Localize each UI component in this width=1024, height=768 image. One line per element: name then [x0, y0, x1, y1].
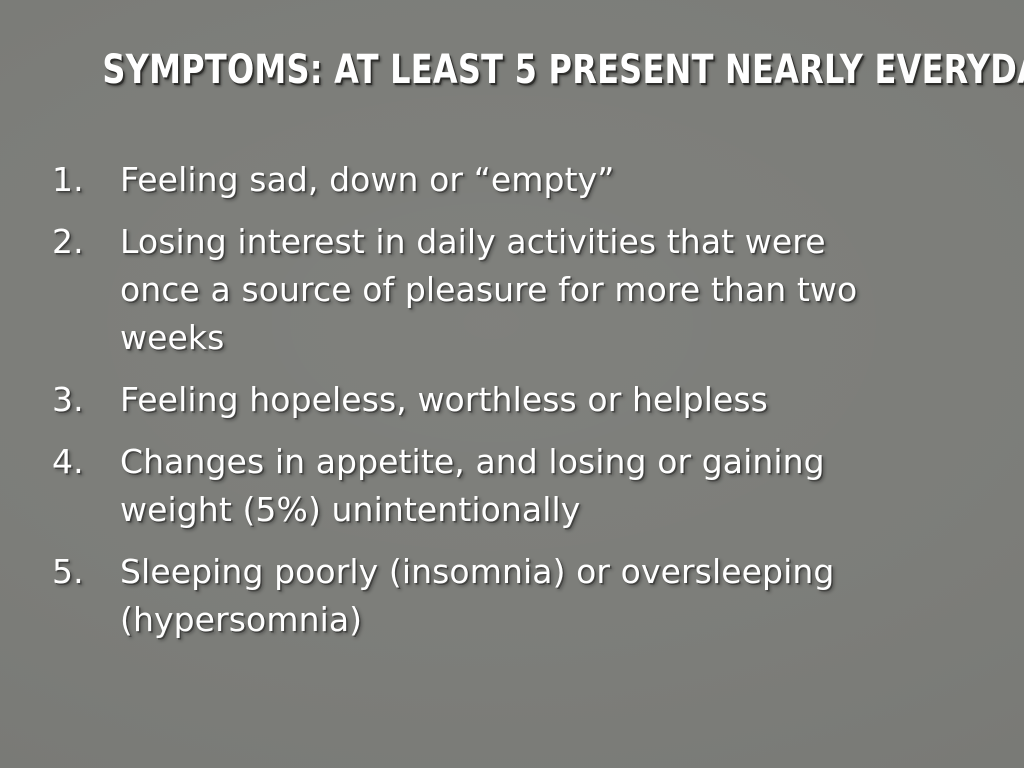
page-title: SYMPTOMS: AT LEAST 5 PRESENT NEARLY EVER…: [102, 48, 921, 92]
symptom-list: 1. Feeling sad, down or “empty” 2. Losin…: [52, 156, 952, 644]
list-item: 1. Feeling sad, down or “empty”: [52, 156, 952, 204]
list-item-number: 2.: [52, 218, 120, 266]
list-item-text: Changes in appetite, and losing or gaini…: [120, 438, 910, 534]
list-item-text: Feeling hopeless, worthless or helpless: [120, 376, 910, 424]
list-item: 4. Changes in appetite, and losing or ga…: [52, 438, 952, 534]
list-item-text: Sleeping poorly (insomnia) or oversleepi…: [120, 548, 910, 644]
list-item: 3. Feeling hopeless, worthless or helple…: [52, 376, 952, 424]
list-item-text: Losing interest in daily activities that…: [120, 218, 910, 362]
list-item-number: 1.: [52, 156, 120, 204]
list-item-number: 4.: [52, 438, 120, 486]
list-item: 2. Losing interest in daily activities t…: [52, 218, 952, 362]
list-item: 5. Sleeping poorly (insomnia) or oversle…: [52, 548, 952, 644]
list-item-number: 5.: [52, 548, 120, 596]
list-item-number: 3.: [52, 376, 120, 424]
slide-canvas: SYMPTOMS: AT LEAST 5 PRESENT NEARLY EVER…: [0, 0, 1024, 768]
list-item-text: Feeling sad, down or “empty”: [120, 156, 910, 204]
